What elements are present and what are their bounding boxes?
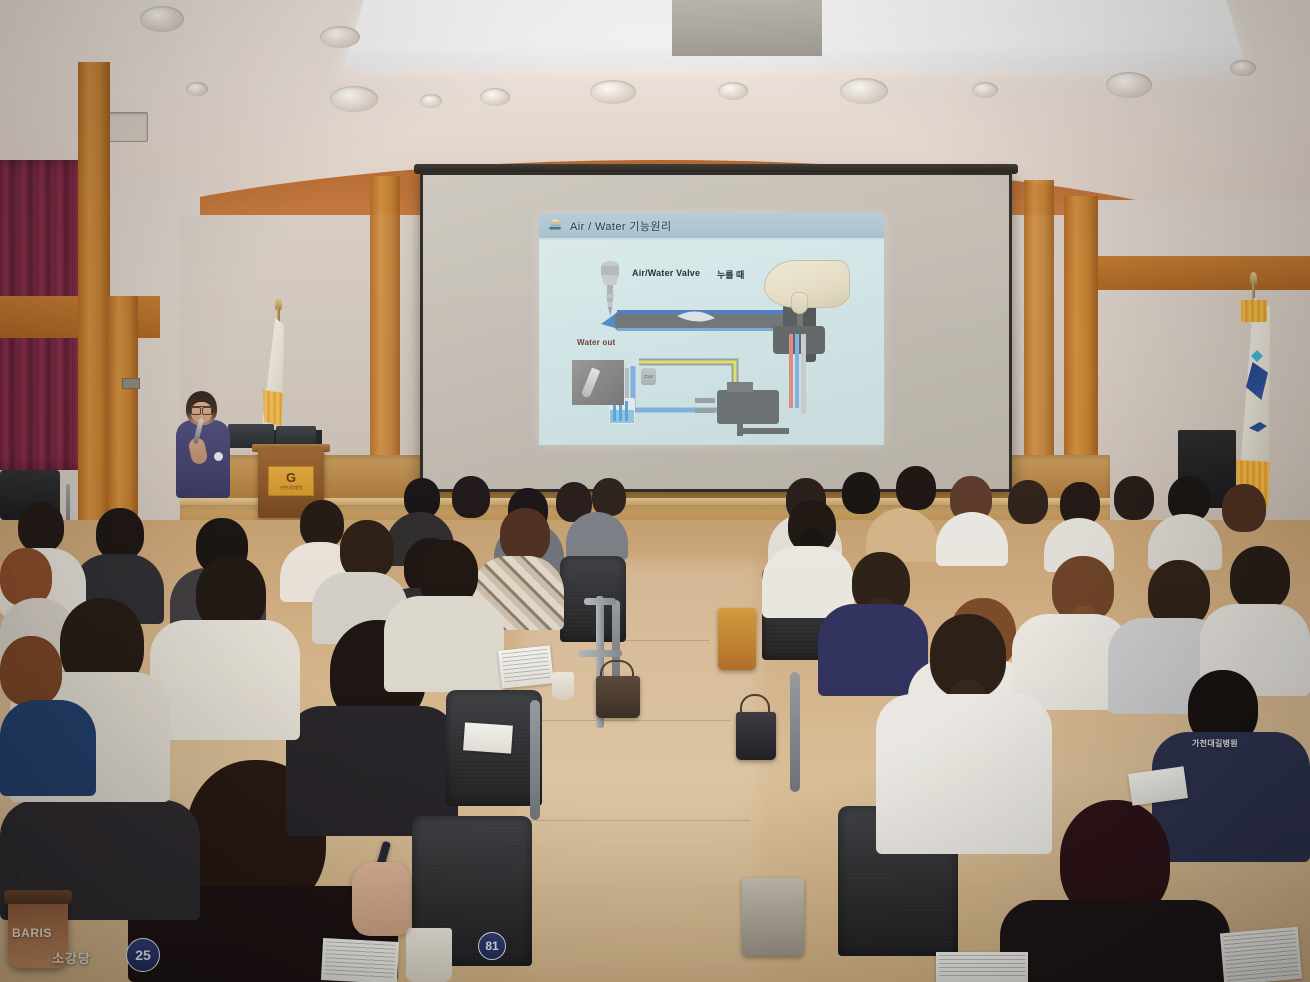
crutch-handle xyxy=(584,598,616,605)
crutch-cross xyxy=(578,650,622,657)
wall-column-left-2 xyxy=(108,296,138,532)
clv-module: CLV xyxy=(641,368,656,385)
paper-cup xyxy=(552,672,574,700)
attendee-head xyxy=(96,508,144,560)
ceiling-downlight xyxy=(480,88,510,106)
attendee-head xyxy=(452,476,490,518)
attendee-head xyxy=(842,472,880,514)
presenter-name-badge xyxy=(214,452,223,461)
presentation-slide: Air / Water 기능원리 Air/Water Valve xyxy=(539,213,884,445)
flag-fringe-left xyxy=(263,390,283,426)
paper-lines xyxy=(501,649,550,686)
attendee-head xyxy=(300,500,344,548)
ceiling-downlight xyxy=(1106,72,1152,98)
wall-beam-right xyxy=(1086,256,1310,290)
handout-paper xyxy=(1220,927,1302,982)
index-finger xyxy=(791,292,808,314)
attendee-torso xyxy=(384,596,504,692)
floor-seam xyxy=(520,820,750,821)
podium-emblem-plate: G 가천대길병원 xyxy=(268,466,314,496)
attendee-head xyxy=(500,508,550,562)
ceiling-downlight xyxy=(1230,60,1256,76)
attendee-head xyxy=(896,466,936,510)
floor-seam xyxy=(540,720,730,721)
paper-lines xyxy=(1223,930,1299,982)
ceiling-skylight-frame xyxy=(672,0,822,56)
attendee-torso xyxy=(0,700,96,796)
attendee-head xyxy=(1008,480,1048,524)
wall-outlet xyxy=(122,378,140,389)
ceiling-downlight xyxy=(186,82,208,96)
valve-label: Air/Water Valve xyxy=(632,268,700,278)
paper-cup xyxy=(406,928,452,982)
clv-label: CLV xyxy=(641,368,656,385)
handbag-strap xyxy=(740,694,770,716)
attendee-head xyxy=(592,478,626,516)
attendee-head xyxy=(1114,476,1154,520)
projection-screen-surface: Air / Water 기능원리 Air/Water Valve xyxy=(423,175,1009,489)
coffee-brand-label: BARIS xyxy=(12,926,68,940)
podium-emblem-letter: G xyxy=(286,471,296,484)
water-out-inset-photo xyxy=(572,360,624,405)
attendee-head xyxy=(340,520,394,580)
lecture-hall-photo: Air / Water 기능원리 Air/Water Valve xyxy=(0,0,1310,982)
flag-fringe-right-top xyxy=(1241,300,1267,322)
cup-lid xyxy=(4,890,72,904)
shopping-bag xyxy=(718,608,756,670)
chair-arm xyxy=(530,700,540,820)
seat-number-badge: 25 xyxy=(126,938,160,972)
hall-name-label: 소강당 xyxy=(52,948,91,967)
ceiling-downlight xyxy=(330,86,378,112)
ceiling-downlight xyxy=(718,82,748,100)
ceiling-downlight xyxy=(140,6,184,32)
ceiling-downlight xyxy=(840,78,888,104)
slide-title: Air / Water 기능원리 xyxy=(570,218,671,234)
handout-paper xyxy=(498,645,554,688)
attendee-torso xyxy=(1000,900,1230,982)
wall-column-left xyxy=(78,62,110,532)
attendee-head xyxy=(1230,546,1290,610)
uniform-hospital-text: 가천대길병원 xyxy=(1192,738,1238,749)
attendee-torso xyxy=(876,694,1052,854)
attendee-head xyxy=(0,636,62,706)
nozzle-tip xyxy=(581,367,601,398)
ceiling-downlight xyxy=(420,94,442,108)
handout-paper xyxy=(936,952,1028,982)
chair-arm xyxy=(790,672,800,792)
handout-paper xyxy=(321,938,399,982)
slide-title-bar: Air / Water 기능원리 xyxy=(539,213,884,240)
handbag xyxy=(736,712,776,760)
presenter-glasses xyxy=(191,406,212,412)
ceiling-downlight xyxy=(590,80,636,104)
handbag-tote xyxy=(742,878,804,956)
handbag xyxy=(596,676,640,718)
seat-number-badge: 81 xyxy=(478,932,506,960)
paper-lines xyxy=(324,941,396,981)
ceiling-downlight xyxy=(972,82,998,98)
slide-body: Air/Water Valve 누를 때 Water out xyxy=(539,240,884,445)
ceiling-downlight xyxy=(320,26,360,48)
attendee-torso xyxy=(150,620,300,740)
stacked-books-icon xyxy=(548,219,563,233)
handout-paper xyxy=(463,722,513,753)
projection-screen: Air / Water 기능원리 Air/Water Valve xyxy=(420,172,1012,492)
podium-emblem-text: 가천대길병원 xyxy=(279,485,302,491)
paper-lines xyxy=(939,955,1025,979)
attendee-head xyxy=(1222,484,1266,532)
attendee-head xyxy=(18,502,64,552)
attendee-hand xyxy=(352,862,410,936)
valve-label-korean: 누를 때 xyxy=(717,268,744,281)
